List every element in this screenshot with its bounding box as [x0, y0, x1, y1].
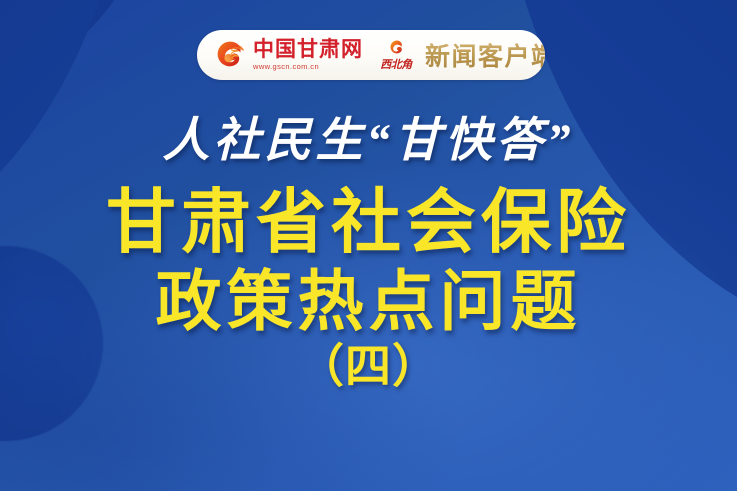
site-brand: 中国甘肃网 www.gscn.com.cn: [253, 39, 363, 71]
xibeijiao-label: 西北角: [380, 56, 412, 72]
title-line-1: 甘肃省社会保险: [0, 185, 737, 260]
logo-bar[interactable]: 中国甘肃网 www.gscn.com.cn 西北角 新闻客户端: [197, 30, 545, 80]
xibeijiao-brand: 西北角: [376, 36, 416, 74]
xibeijiao-flame-logo-icon: [386, 39, 406, 55]
site-name: 中国甘肃网: [253, 39, 363, 60]
site-url: www.gscn.com.cn: [253, 63, 363, 71]
issue-number: （四）: [0, 341, 737, 392]
title-line-2: 政策热点问题: [0, 266, 737, 337]
gansu-net-gourd-logo-icon: [213, 38, 247, 72]
headline-block: 人社民生“甘快答” 甘肃省社会保险 政策热点问题 （四）: [0, 118, 737, 391]
poster-canvas: 中国甘肃网 www.gscn.com.cn 西北角 新闻客户端 人社民生“甘快答…: [0, 0, 737, 491]
app-label: 新闻客户端: [425, 37, 545, 73]
series-label: 人社民生“甘快答”: [0, 118, 737, 165]
